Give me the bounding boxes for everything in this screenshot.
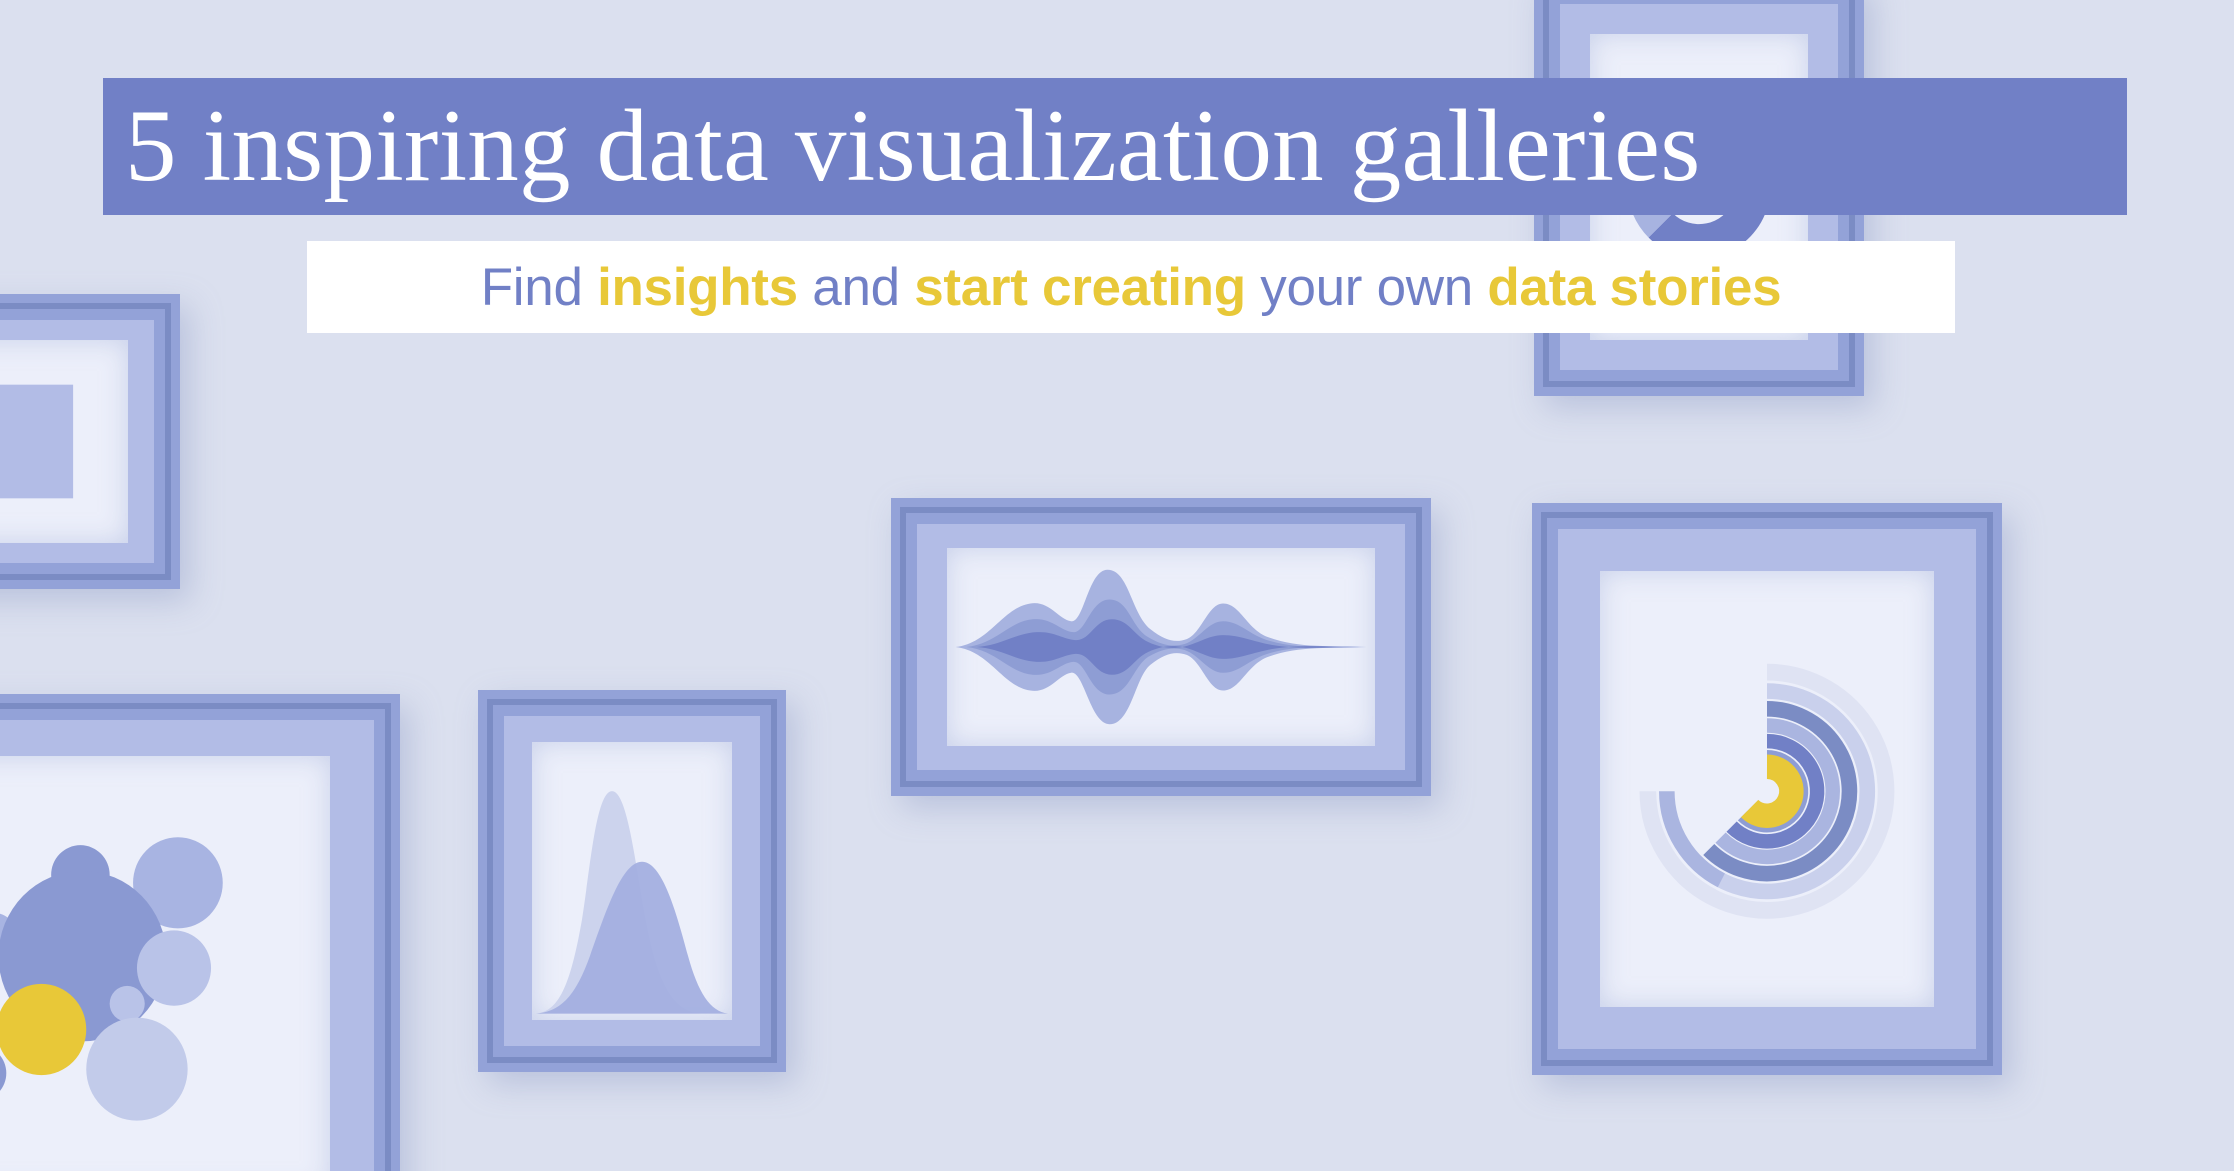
density-curves-artwork [532,742,732,1020]
subtitle-segment-1: insights [597,258,798,317]
title-band: 5 inspiring data visualization galleries [103,78,2127,215]
bubble-8 [86,1018,187,1121]
gallery-wall: 5 inspiring data visualization galleries… [0,0,2234,1171]
streamgraph-frame[interactable] [891,498,1431,796]
bubble-chart-artwork [0,756,330,1171]
frame-canvas [1600,571,1934,1007]
page-subtitle: Find insights and start creating your ow… [481,257,1782,318]
treemap-block-1 [0,385,73,499]
radial-bar-chart-frame[interactable] [1532,503,2002,1075]
page-title: 5 inspiring data visualization galleries [125,95,1700,198]
treemap-artwork [0,340,128,543]
treemap-frame[interactable] [0,294,180,589]
subtitle-segment-2: and [798,258,914,317]
radial-ring-1 [1750,767,1792,816]
subtitle-segment-4: your own [1246,258,1488,317]
bubble-5 [137,930,211,1005]
frame-canvas [947,548,1375,746]
frame-canvas [0,756,330,1171]
frame-canvas [0,340,128,543]
subtitle-segment-0: Find [481,258,597,317]
bubble-7 [0,984,86,1075]
subtitle-segment-3: start creating [914,258,1246,317]
streamgraph-artwork [947,548,1375,746]
radial-bar-chart-artwork [1600,571,1934,1007]
density-curve-frame[interactable] [478,690,786,1072]
subtitle-segment-5: data stories [1487,258,1781,317]
subtitle-band: Find insights and start creating your ow… [307,241,1955,333]
frame-canvas [532,742,732,1020]
bubble-chart-frame[interactable] [0,694,400,1171]
bubble-6 [110,986,145,1022]
